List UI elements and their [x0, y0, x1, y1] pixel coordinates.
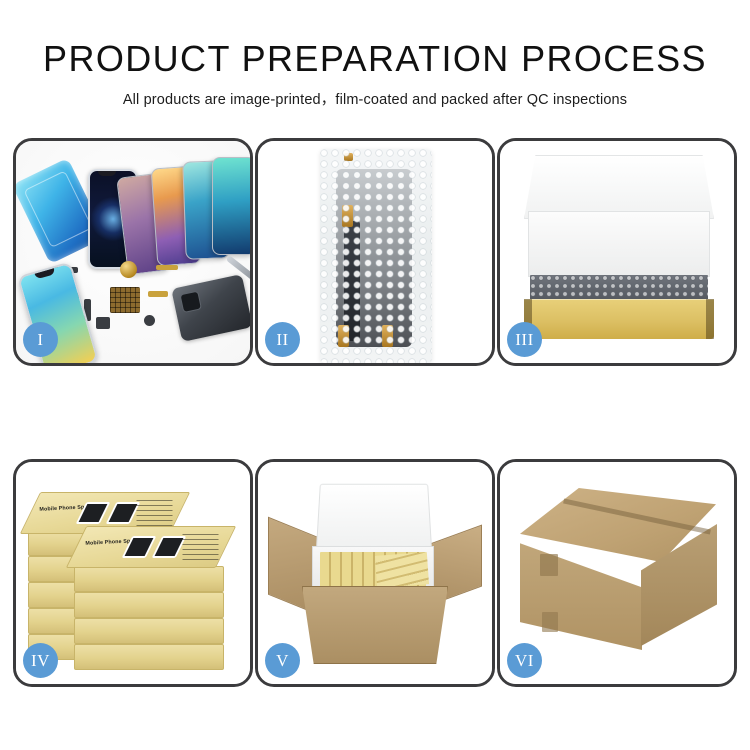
printed-box-lid-graphic: Mobile Phone Spare Parts — [66, 526, 236, 568]
retail-boxes-row-graphic — [375, 552, 429, 588]
box-stack-graphic: Mobile Phone Spare Parts Mobile Phone Sp… — [22, 484, 244, 670]
step-panel-2: II — [255, 138, 495, 366]
step-badge-2: II — [265, 322, 300, 357]
kraft-box-front-graphic — [524, 299, 714, 339]
box-spec-lines-graphic — [137, 500, 173, 528]
foam-lid-graphic — [316, 484, 432, 549]
box-spec-lines-graphic — [183, 534, 219, 562]
page-subtitle: All products are image-printed，film-coat… — [0, 88, 750, 109]
step-badge-4: IV — [23, 643, 58, 678]
step-panel-6: VI — [497, 459, 737, 687]
step-badge-3: III — [507, 322, 542, 357]
page-title: PRODUCT PREPARATION PROCESS — [0, 40, 750, 78]
part-graphic — [156, 265, 178, 270]
chip-grid-graphic — [110, 287, 140, 313]
step-panel-3: III — [497, 138, 737, 366]
phone-backplate-graphic — [171, 274, 250, 342]
bubble-wrap-bag-graphic — [320, 149, 432, 363]
box-window-graphic — [106, 502, 141, 524]
phone-graphic — [212, 157, 250, 255]
stacked-box-graphic — [74, 592, 224, 618]
step-badge-5: V — [265, 643, 300, 678]
step-panel-4: Mobile Phone Spare Parts Mobile Phone Sp… — [13, 459, 253, 687]
step-panel-5: V — [255, 459, 495, 687]
part-graphic — [148, 291, 168, 297]
product-preparation-infographic: PRODUCT PREPARATION PROCESS All products… — [0, 0, 750, 750]
wrapped-contents-graphic — [530, 275, 708, 301]
box-window-graphic — [152, 536, 187, 558]
process-steps-grid: I II — [13, 138, 737, 687]
step-badge-1: I — [23, 322, 58, 357]
part-graphic — [96, 317, 110, 329]
vibrator-motor-graphic — [120, 261, 137, 278]
bubble-texture — [320, 149, 432, 363]
stacked-box-graphic — [74, 566, 224, 592]
carton-body-graphic — [302, 586, 448, 664]
part-graphic — [144, 315, 155, 326]
box-lid-graphic — [524, 155, 714, 219]
step-badge-6: VI — [507, 643, 542, 678]
step-panel-1: I — [13, 138, 253, 366]
carton-tape-graphic — [540, 554, 558, 576]
stacked-box-graphic — [74, 618, 224, 644]
header: PRODUCT PREPARATION PROCESS All products… — [0, 0, 750, 109]
stacked-box-graphic — [74, 644, 224, 670]
carton-tape-graphic — [542, 612, 558, 632]
foam-lining-graphic — [528, 211, 710, 277]
